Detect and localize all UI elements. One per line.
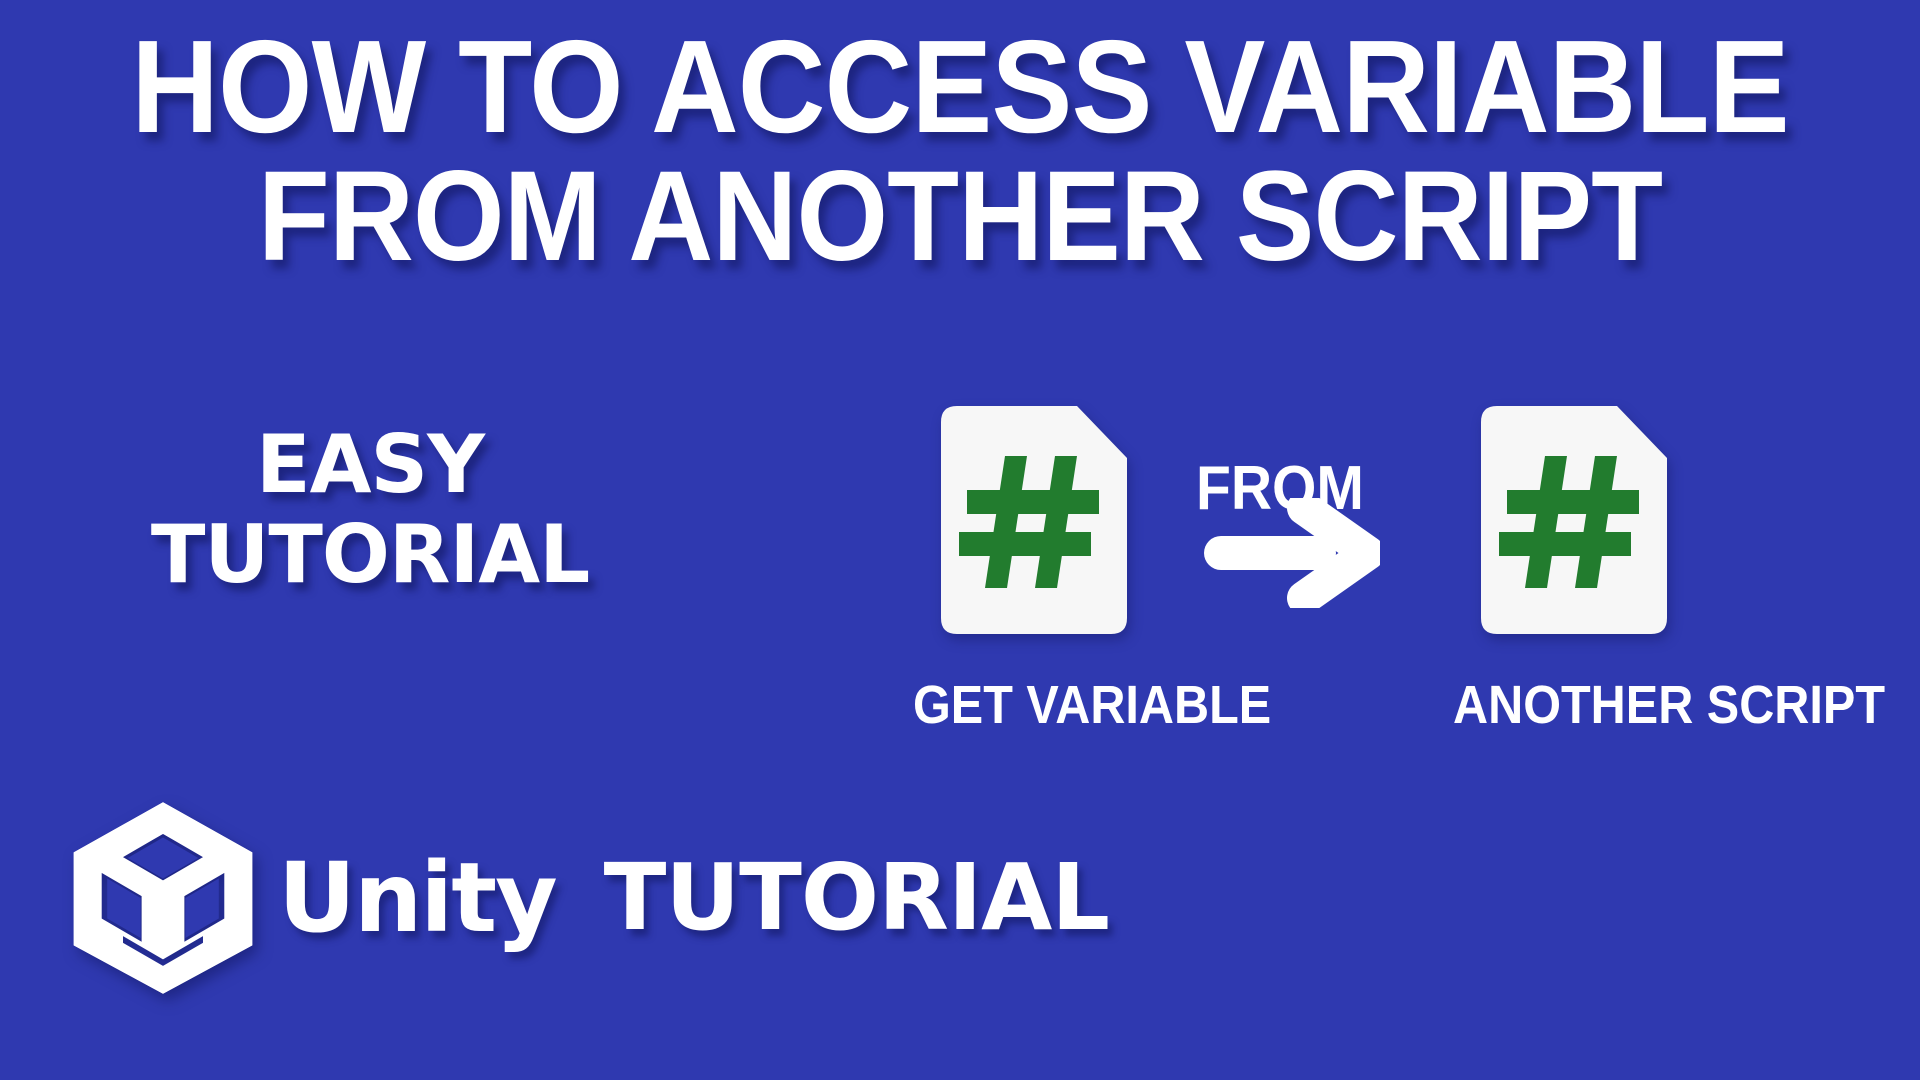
arrow-right-icon	[1200, 498, 1380, 608]
csharp-script-file-icon	[1467, 400, 1673, 640]
title-line-1: HOW TO ACCESS VARIABLE	[77, 22, 1843, 152]
csharp-script-file-icon	[927, 400, 1133, 640]
thumbnail-canvas: HOW TO ACCESS VARIABLE FROM ANOTHER SCRI…	[0, 0, 1920, 1080]
source-script-caption: GET VARIABLE	[913, 676, 1147, 734]
unity-cube-logo	[70, 800, 256, 996]
page-title: HOW TO ACCESS VARIABLE FROM ANOTHER SCRI…	[0, 22, 1920, 282]
title-line-2: FROM ANOTHER SCRIPT	[77, 152, 1843, 282]
unity-tutorial-suffix: TUTORIAL	[604, 848, 1109, 948]
unity-wordmark: Unity	[278, 848, 556, 948]
target-script-group: ANOTHER SCRIPT	[1440, 400, 1700, 734]
target-script-caption: ANOTHER SCRIPT	[1453, 676, 1687, 734]
easy-tutorial-badge: EASY TUTORIAL	[60, 420, 680, 600]
badge-line-2: TUTORIAL	[60, 510, 680, 600]
source-script-group: GET VARIABLE	[900, 400, 1160, 734]
unity-branding: Unity TUTORIAL	[70, 800, 1109, 996]
badge-line-1: EASY	[60, 420, 680, 510]
